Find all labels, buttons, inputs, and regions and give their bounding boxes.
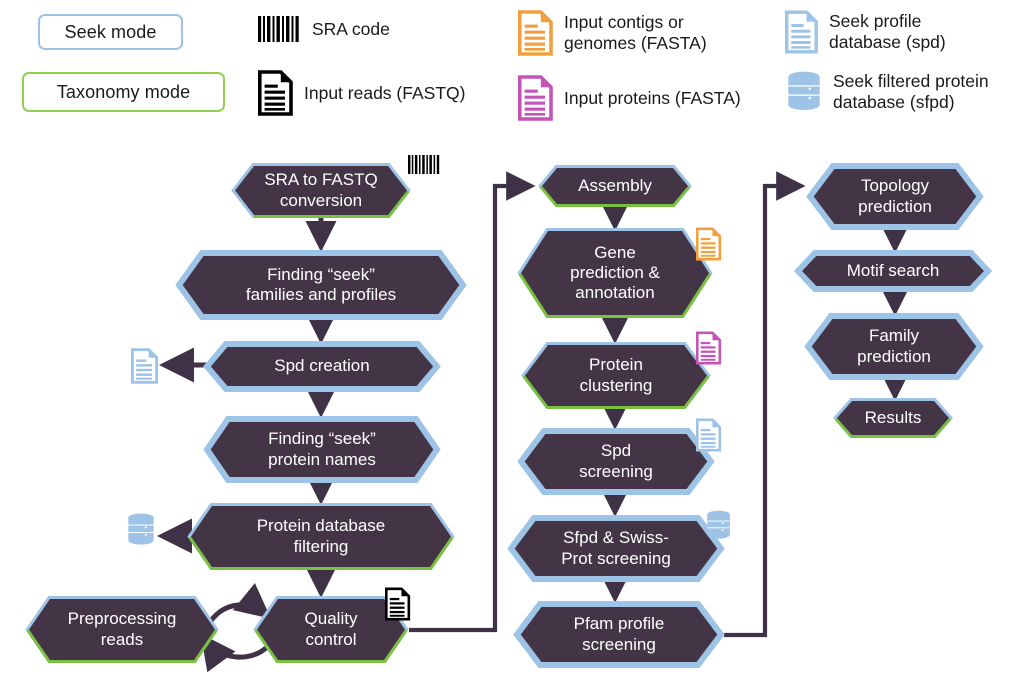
node-finding-seek-families[interactable]: Finding “seek” families and profiles	[176, 250, 466, 320]
database-icon-sfpd-input	[705, 509, 732, 542]
document-icon-fastq-qc	[385, 587, 411, 621]
document-icon-spd-output	[131, 348, 159, 384]
node-spd-screening[interactable]: Spd screening	[518, 428, 714, 495]
document-icon-proteins	[696, 331, 722, 365]
document-icon-spd-input	[696, 418, 722, 452]
node-pfam-profile-screening[interactable]: Pfam profile screening	[514, 601, 724, 668]
hexagon-shape	[188, 503, 454, 570]
flowchart-canvas: Seek mode Taxonomy mode SRA co	[0, 0, 1024, 678]
hexagon-shape	[26, 596, 218, 663]
hexagon-shape	[539, 165, 691, 207]
node-sfpd-swissprot-screening[interactable]: Sfpd & Swiss- Prot screening	[508, 515, 724, 582]
hexagon-shape	[508, 515, 724, 582]
hexagon-shape	[807, 163, 983, 230]
node-preprocessing-reads[interactable]: Preprocessing reads	[26, 596, 218, 663]
hexagon-shape	[176, 250, 466, 320]
document-icon-contigs	[696, 227, 722, 261]
hexagon-shape	[204, 416, 440, 483]
node-gene-prediction-annotation[interactable]: Gene prediction & annotation	[518, 228, 712, 318]
database-icon-sfpd-output	[126, 512, 156, 548]
node-assembly[interactable]: Assembly	[539, 165, 691, 207]
node-motif-search[interactable]: Motif search	[795, 250, 991, 292]
hexagon-shape	[834, 398, 952, 438]
node-family-prediction[interactable]: Family prediction	[805, 313, 983, 380]
hexagon-shape	[514, 601, 724, 668]
hexagon-shape	[795, 250, 991, 292]
node-results[interactable]: Results	[834, 398, 952, 438]
node-spd-creation[interactable]: Spd creation	[204, 341, 440, 392]
node-topology-prediction[interactable]: Topology prediction	[807, 163, 983, 230]
hexagon-shape	[518, 228, 712, 318]
node-protein-clustering[interactable]: Protein clustering	[522, 342, 710, 409]
hexagon-shape	[522, 342, 710, 409]
barcode-icon-sra	[408, 155, 442, 174]
node-finding-seek-protein-names[interactable]: Finding “seek” protein names	[204, 416, 440, 483]
node-protein-database-filtering[interactable]: Protein database filtering	[188, 503, 454, 570]
node-sra-to-fastq[interactable]: SRA to FASTQ conversion	[232, 163, 410, 218]
hexagon-shape	[518, 428, 714, 495]
hexagon-shape	[204, 341, 440, 392]
hexagon-shape	[232, 163, 410, 218]
hexagon-shape	[805, 313, 983, 380]
